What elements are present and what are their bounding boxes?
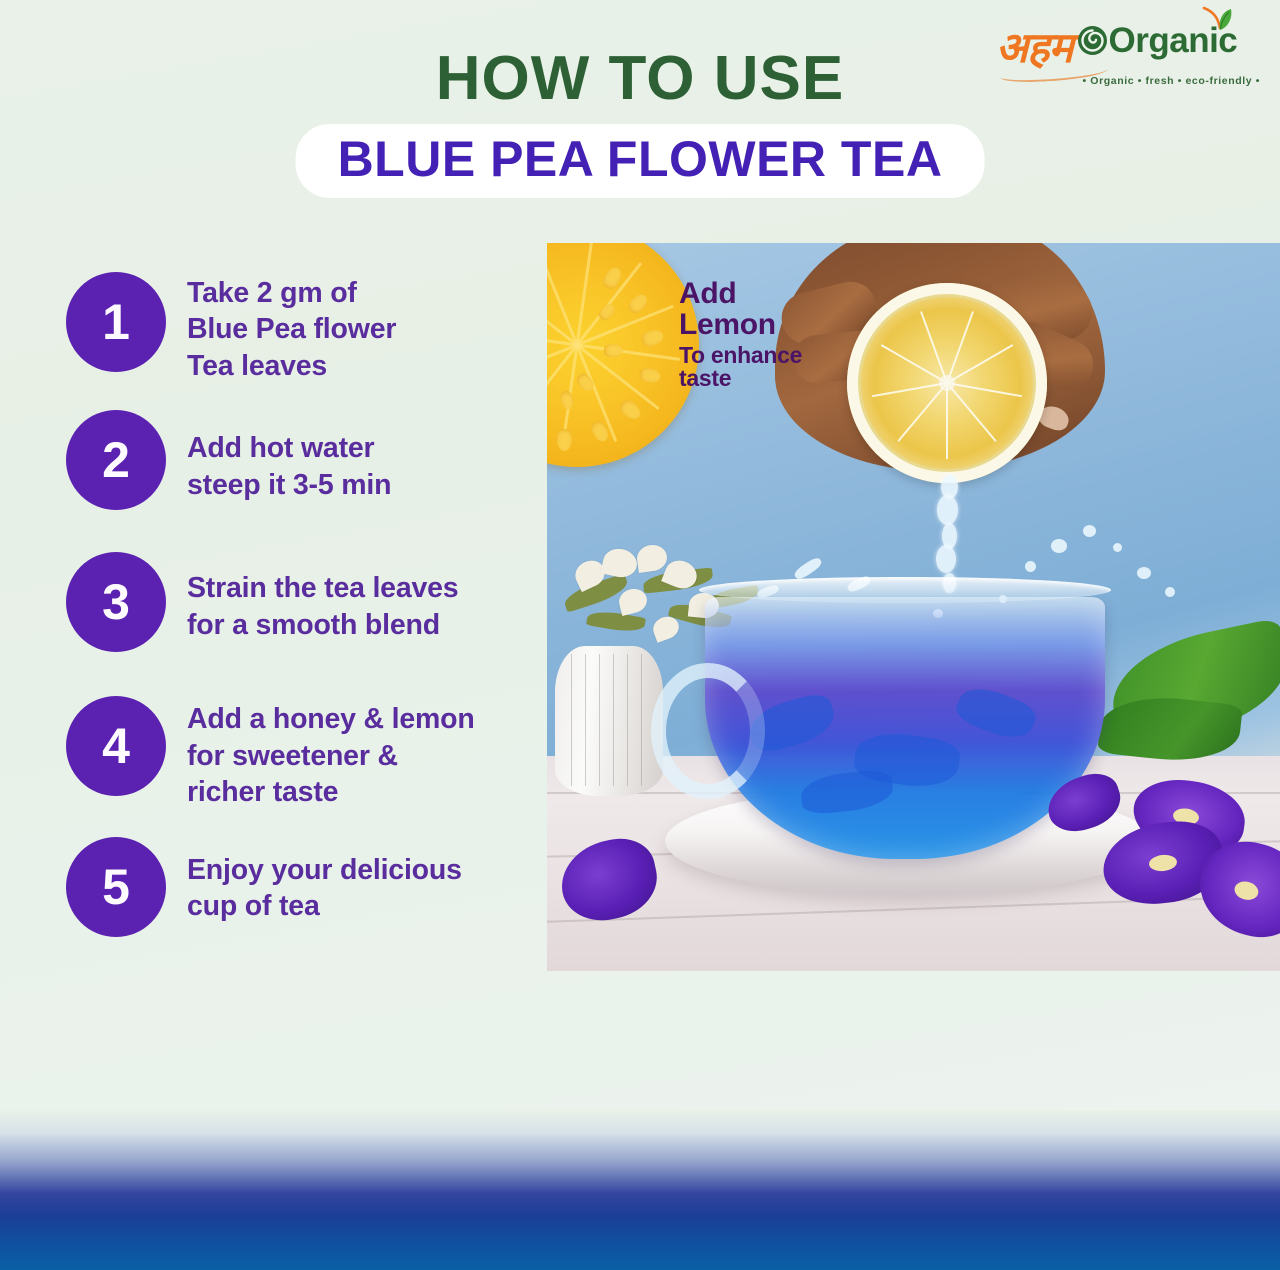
- add-lemon-badge-text: Add Lemon To enhance taste: [679, 279, 802, 391]
- step-line: Strain the tea leaves: [187, 570, 458, 606]
- product-photo: Add Lemon To enhance taste: [547, 243, 1280, 971]
- step-number-badge-2: 2: [66, 410, 166, 510]
- step-text-3: Strain the tea leaves for a smooth blend: [187, 552, 458, 643]
- badge-line-4: taste: [679, 367, 802, 391]
- page-title: HOW TO USE: [0, 48, 1280, 110]
- badge-line-2: Lemon: [679, 310, 802, 341]
- badge-line-3: To enhance: [679, 344, 802, 368]
- step-line: Tea leaves: [187, 348, 396, 384]
- subtitle-pill: BLUE PEA FLOWER TEA: [296, 124, 985, 198]
- step-line: richer taste: [187, 774, 475, 810]
- badge-line-1: Add: [679, 279, 802, 310]
- step-text-4: Add a honey & lemon for sweetener & rich…: [187, 696, 475, 810]
- step-number-badge-1: 1: [66, 272, 166, 372]
- step-item-5: 5 Enjoy your delicious cup of tea: [66, 837, 546, 937]
- infographic-poster: अहम Organic • Organic • fresh • eco-frie…: [0, 0, 1280, 1270]
- step-item-2: 2 Add hot water steep it 3-5 min: [66, 410, 546, 510]
- step-line: Add hot water: [187, 430, 391, 466]
- step-item-4: 4 Add a honey & lemon for sweetener & ri…: [66, 696, 546, 810]
- step-line: Enjoy your delicious: [187, 852, 462, 888]
- step-number-badge-3: 3: [66, 552, 166, 652]
- step-line: Take 2 gm of: [187, 275, 396, 311]
- step-line: cup of tea: [187, 888, 462, 924]
- steps-list: 1 Take 2 gm of Blue Pea flower Tea leave…: [66, 272, 546, 959]
- step-item-1: 1 Take 2 gm of Blue Pea flower Tea leave…: [66, 272, 546, 384]
- cup-rim: [699, 577, 1111, 603]
- flower-vase: [555, 646, 663, 796]
- step-line: for sweetener &: [187, 738, 475, 774]
- step-item-3: 3 Strain the tea leaves for a smooth ble…: [66, 552, 546, 652]
- step-line: steep it 3-5 min: [187, 467, 391, 503]
- page-subtitle: BLUE PEA FLOWER TEA: [338, 134, 943, 184]
- step-text-2: Add hot water steep it 3-5 min: [187, 410, 391, 503]
- step-text-5: Enjoy your delicious cup of tea: [187, 837, 462, 925]
- leaf-icon: [1200, 6, 1234, 34]
- lemon-slice: [847, 283, 1047, 483]
- cup-handle: [651, 663, 765, 799]
- step-line: for a smooth blend: [187, 607, 458, 643]
- step-number-badge-5: 5: [66, 837, 166, 937]
- step-line: Blue Pea flower: [187, 311, 396, 347]
- bottom-gradient-band: [0, 1110, 1280, 1270]
- step-line: Add a honey & lemon: [187, 701, 475, 737]
- step-text-1: Take 2 gm of Blue Pea flower Tea leaves: [187, 272, 396, 384]
- step-number-badge-4: 4: [66, 696, 166, 796]
